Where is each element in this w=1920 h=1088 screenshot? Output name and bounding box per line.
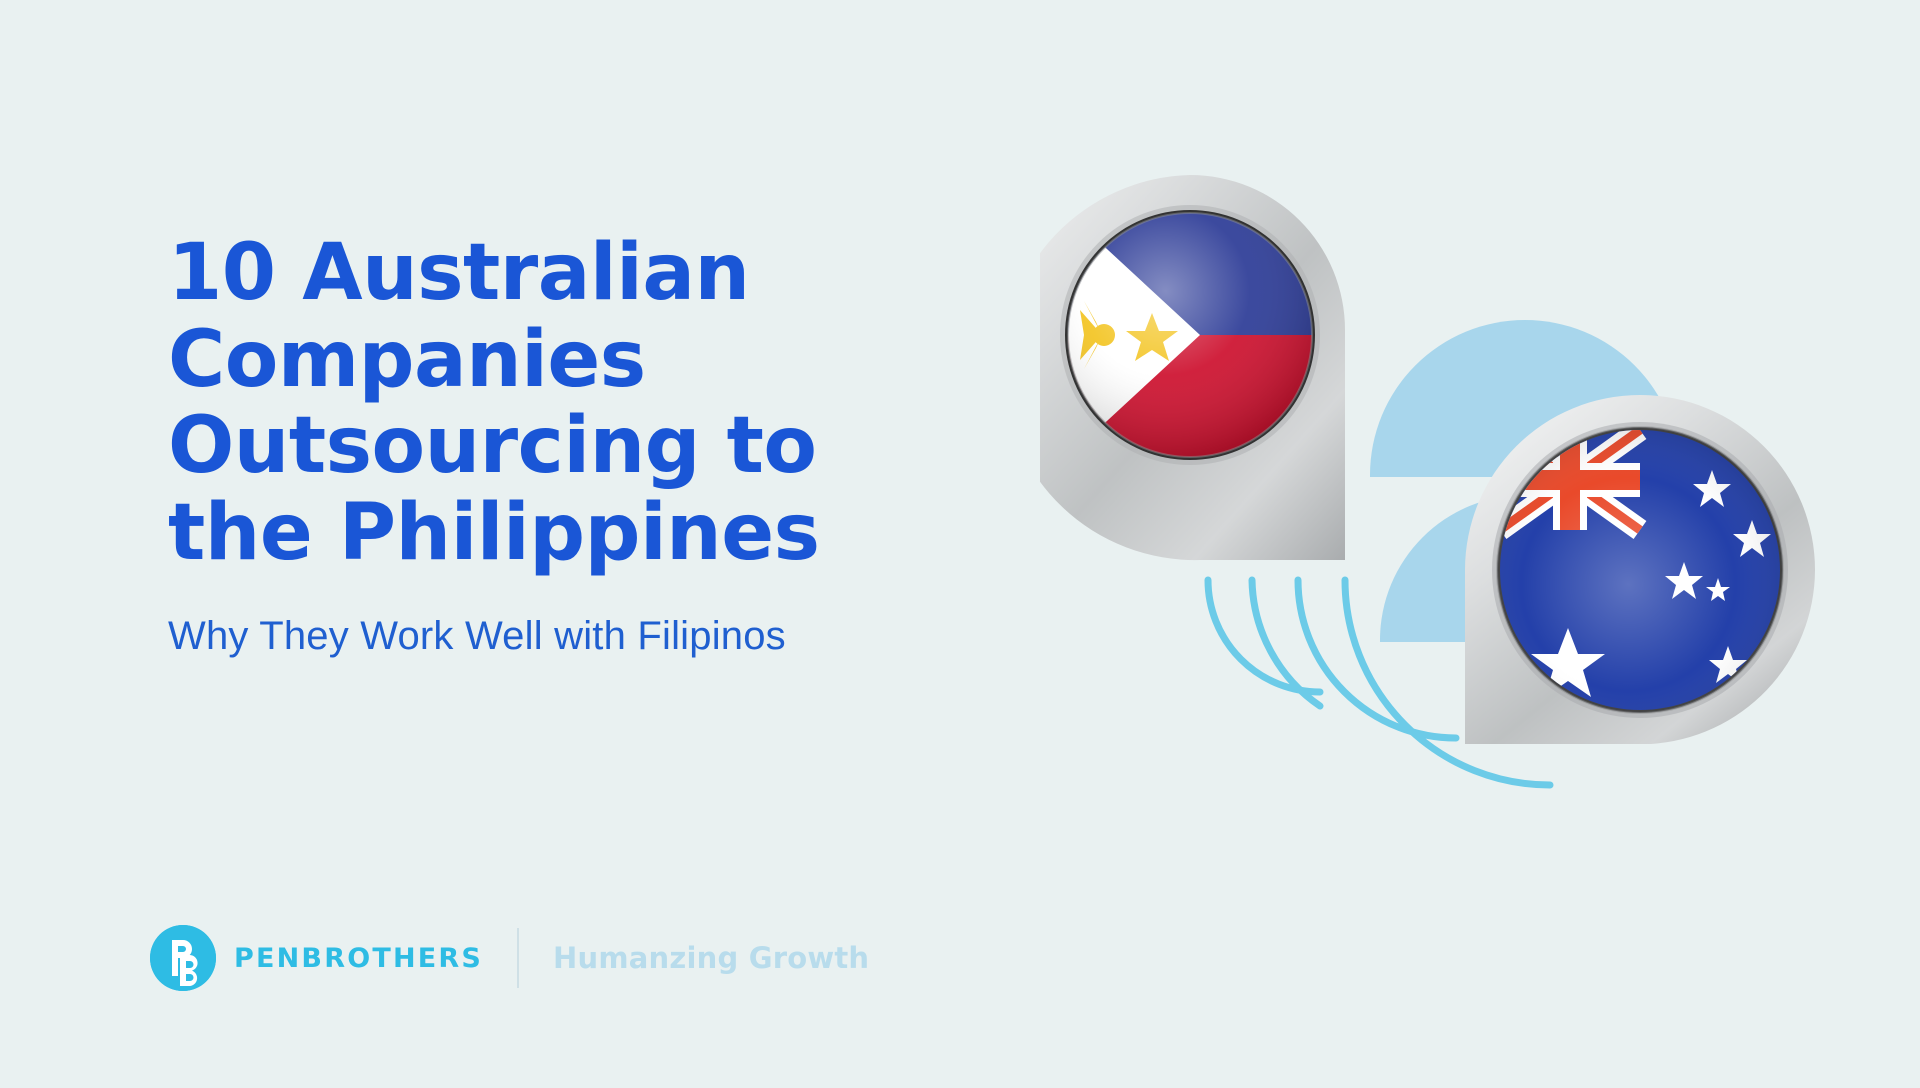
flag-pins-illustration [1040,150,1860,850]
australia-flag-pin [1465,395,1815,744]
brand-divider [517,928,519,988]
brand-lockup: PENBROTHERS Humanzing Growth [150,920,869,996]
brand-tagline: Humanzing Growth [553,941,869,975]
penbrothers-logo-icon [150,925,216,991]
page-subtitle: Why They Work Well with Filipinos [168,614,988,659]
hero-text-block: 10 Australian Companies Outsourcing to t… [168,230,988,659]
banner-canvas: 10 Australian Companies Outsourcing to t… [0,0,1920,1088]
page-title: 10 Australian Companies Outsourcing to t… [168,230,988,576]
philippines-flag-pin [1040,175,1345,560]
brand-name: PENBROTHERS [234,943,483,974]
